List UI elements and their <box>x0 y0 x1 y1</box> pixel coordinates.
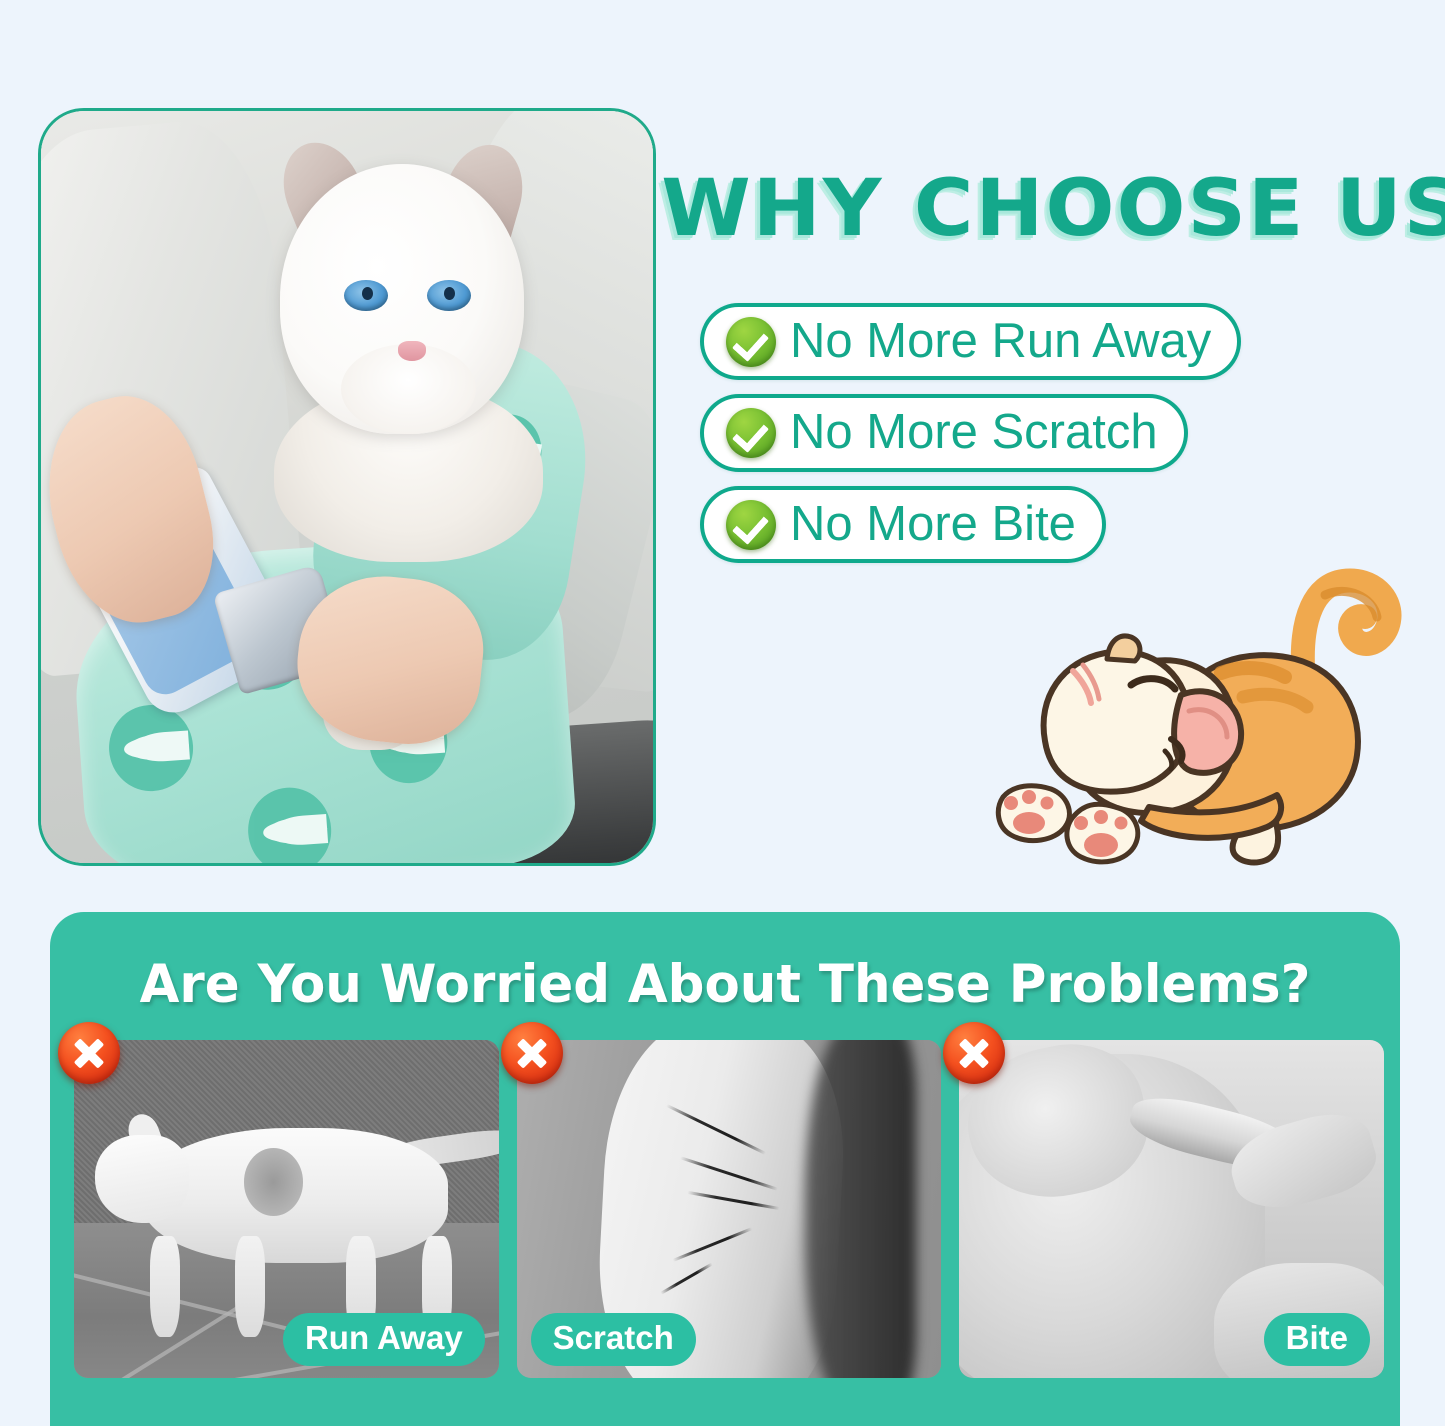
cat-head <box>95 1135 188 1223</box>
check-circle-icon <box>726 408 776 458</box>
x-circle-icon <box>501 1022 563 1084</box>
cat-leg <box>150 1236 180 1337</box>
why-choose-us-section: WHY CHOOSE US? No More Run Away No More … <box>0 0 1445 900</box>
benefit-item-run-away[interactable]: No More Run Away <box>700 303 1241 380</box>
problem-label: Run Away <box>283 1313 485 1366</box>
hero-product-photo <box>38 108 656 866</box>
fishbone-dot <box>106 702 195 794</box>
x-circle-icon <box>943 1022 1005 1084</box>
problems-section: Are You Worried About These Problems? <box>50 912 1400 1426</box>
problem-card-bite[interactable]: Bite <box>959 1040 1384 1378</box>
benefit-item-scratch[interactable]: No More Scratch <box>700 394 1188 471</box>
problem-card-scratch[interactable]: Scratch <box>517 1040 942 1378</box>
problem-label: Scratch <box>531 1313 696 1366</box>
check-circle-icon <box>726 317 776 367</box>
x-circle-icon <box>58 1022 120 1084</box>
cat-eye-right <box>427 280 471 311</box>
page-title: WHY CHOOSE US? <box>661 170 1431 248</box>
cat-leg <box>235 1236 265 1337</box>
problem-label: Bite <box>1264 1313 1370 1366</box>
fishbone-dot <box>245 785 334 866</box>
problems-title: Are You Worried About These Problems? <box>70 954 1380 1015</box>
benefit-label: No More Scratch <box>790 407 1158 458</box>
problem-card-run-away[interactable]: Run Away <box>74 1040 499 1378</box>
cat-eye-left <box>344 280 388 311</box>
check-circle-icon <box>726 500 776 550</box>
benefit-item-bite[interactable]: No More Bite <box>700 486 1106 563</box>
stretching-cat-illustration <box>985 555 1415 885</box>
cat-spot <box>244 1148 303 1216</box>
benefit-label: No More Run Away <box>790 316 1211 367</box>
benefit-label: No More Bite <box>790 499 1076 550</box>
problem-card-list: Run Away Scratch <box>70 1040 1388 1378</box>
arm-shadow <box>805 1040 915 1378</box>
hero-scene <box>41 111 653 863</box>
benefit-list: No More Run Away No More Scratch No More… <box>700 303 1241 563</box>
